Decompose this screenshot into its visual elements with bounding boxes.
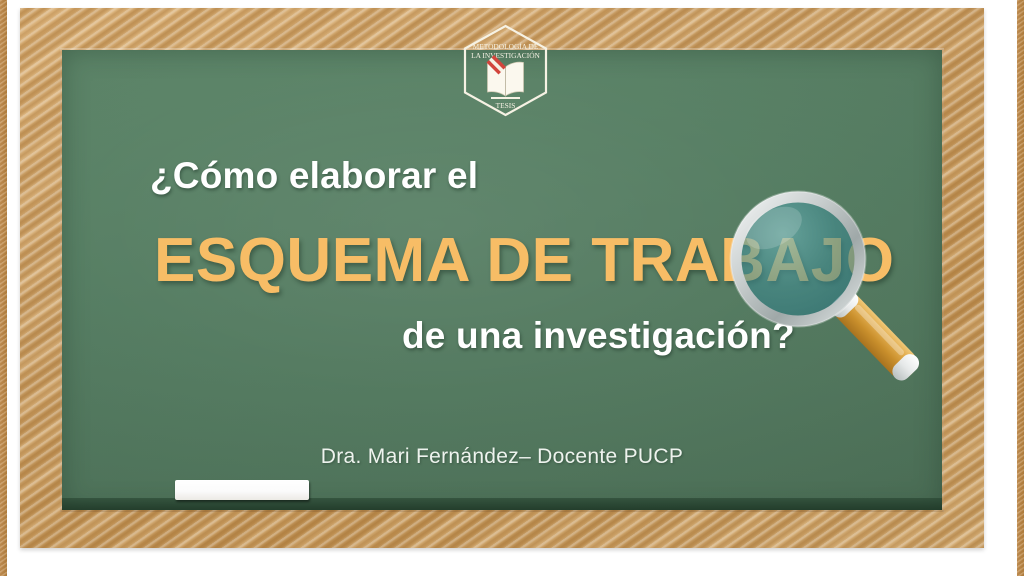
logo-book-base — [491, 97, 520, 99]
logo-top-line-2: LA INVESTIGACIÓN — [471, 50, 540, 60]
title-line-main: ESQUEMA DE TRABAJO — [154, 225, 894, 296]
metodologia-investigacion-logo: METODOLOGÍA DE LA INVESTIGACIÓN TESIS — [453, 22, 558, 117]
slide-canvas: METODOLOGÍA DE LA INVESTIGACIÓN TESIS ¿C… — [0, 0, 1024, 576]
logo-open-book-icon — [487, 55, 524, 99]
title-line-bottom: de una investigación? — [402, 315, 795, 357]
left-wood-edge-strip — [0, 0, 7, 576]
presenter-byline: Dra. Mari Fernández– Docente PUCP — [62, 445, 942, 469]
headline-block: ¿Cómo elaborar el ESQUEMA DE TRABAJO de … — [62, 50, 942, 510]
right-wood-edge-strip — [1017, 0, 1024, 576]
logo-bottom-label: TESIS — [496, 101, 516, 110]
title-line-top: ¿Cómo elaborar el — [150, 155, 478, 197]
logo-top-line-1: METODOLOGÍA DE — [473, 41, 539, 51]
